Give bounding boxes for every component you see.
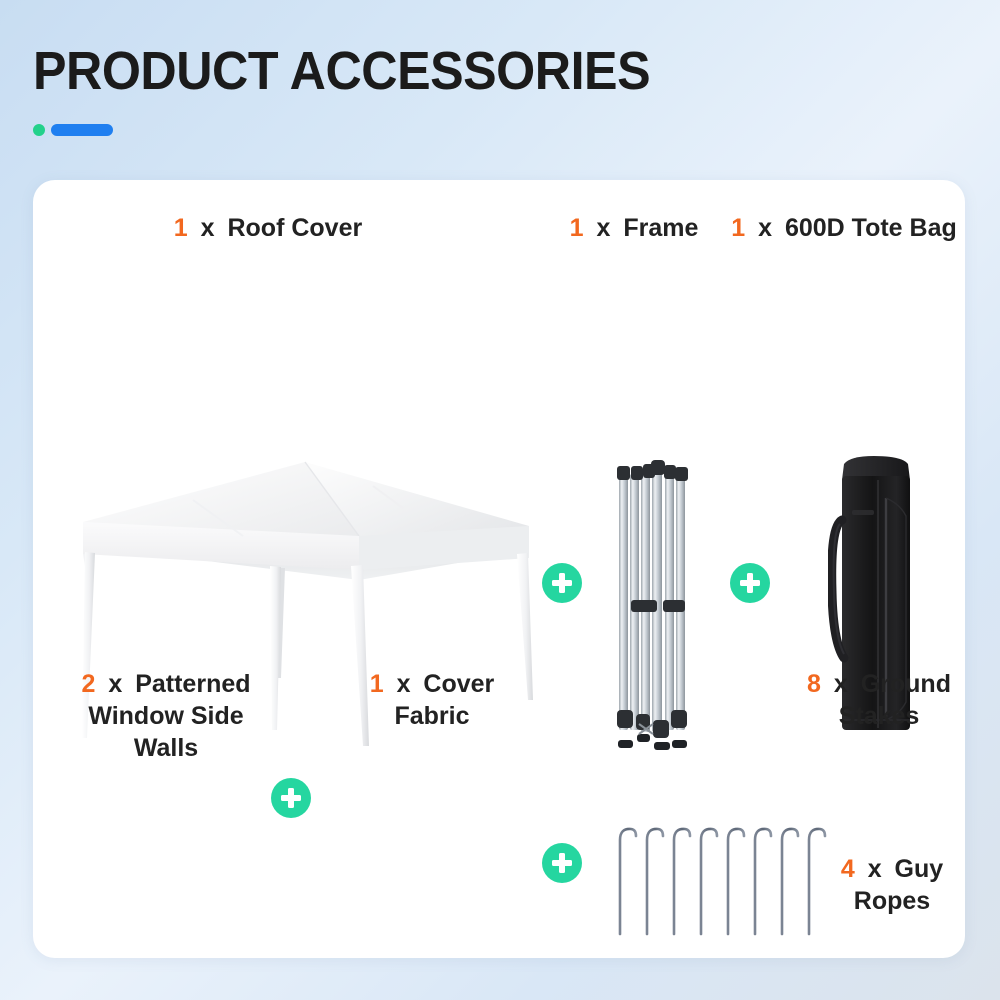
name-frame: Frame: [623, 214, 698, 242]
label-cover-fabric: 1 x Cover Fabric: [333, 668, 531, 732]
plus-icon-roof-walls: [271, 778, 311, 818]
name-guy-ropes-line2: Ropes: [819, 885, 965, 917]
sep-window-side-walls: x: [108, 670, 122, 698]
label-guy-ropes: 4 x Guy Ropes: [819, 853, 965, 917]
qty-guy-ropes: 4: [841, 855, 855, 883]
sep-frame: x: [596, 214, 610, 242]
qty-tote-bag: 1: [731, 214, 745, 242]
sep-tote-bag: x: [758, 214, 772, 242]
page-title: PRODUCT ACCESSORIES: [33, 44, 898, 98]
label-tote-bag: 1 x 600D Tote Bag: [723, 212, 965, 244]
sep-ground-stakes: x: [834, 670, 848, 698]
qty-roof-cover: 1: [174, 214, 188, 242]
label-roof-cover: 1 x Roof Cover: [33, 212, 503, 244]
name-window-side-walls-line2: Window Side: [51, 700, 281, 732]
sep-roof-cover: x: [201, 214, 215, 242]
accent-line: [51, 124, 113, 136]
label-window-side-walls-line1-wrap: 2 x Patterned: [51, 668, 281, 700]
name-window-side-walls-line3: Walls: [51, 732, 281, 764]
accent-dot: [33, 124, 45, 136]
name-ground-stakes-line1: Ground: [861, 670, 951, 698]
label-ground-stakes: 8 x Ground Stakes: [793, 668, 965, 732]
name-window-side-walls-line1: Patterned: [135, 670, 250, 698]
sep-cover-fabric: x: [397, 670, 411, 698]
accent-bar: [33, 124, 963, 136]
name-guy-ropes-line1: Guy: [895, 855, 944, 883]
label-guy-ropes-line1-wrap: 4 x Guy: [819, 853, 965, 885]
sep-guy-ropes: x: [868, 855, 882, 883]
qty-ground-stakes: 8: [807, 670, 821, 698]
label-cover-fabric-line1-wrap: 1 x Cover: [333, 668, 531, 700]
qty-window-side-walls: 2: [81, 670, 95, 698]
accessories-card: 1 x Roof Cover 1 x Frame 1 x 600D Tote B…: [33, 180, 965, 958]
frame-image: [605, 452, 701, 752]
label-window-side-walls: 2 x Patterned Window Side Walls: [51, 668, 281, 764]
name-cover-fabric-line1: Cover: [423, 670, 494, 698]
name-cover-fabric-line2: Fabric: [333, 700, 531, 732]
name-tote-bag: 600D Tote Bag: [785, 214, 957, 242]
label-frame: 1 x Frame: [539, 212, 729, 244]
qty-cover-fabric: 1: [370, 670, 384, 698]
plus-icon-fabric-stakes: [542, 843, 582, 883]
name-ground-stakes-line2: Stakes: [793, 700, 965, 732]
name-roof-cover: Roof Cover: [227, 214, 362, 242]
ground-stakes-image: [611, 818, 829, 940]
plus-icon-roof-frame: [542, 563, 582, 603]
qty-frame: 1: [570, 214, 584, 242]
label-ground-stakes-line1-wrap: 8 x Ground: [793, 668, 965, 700]
header: PRODUCT ACCESSORIES: [33, 44, 963, 136]
plus-icon-frame-tote: [730, 563, 770, 603]
